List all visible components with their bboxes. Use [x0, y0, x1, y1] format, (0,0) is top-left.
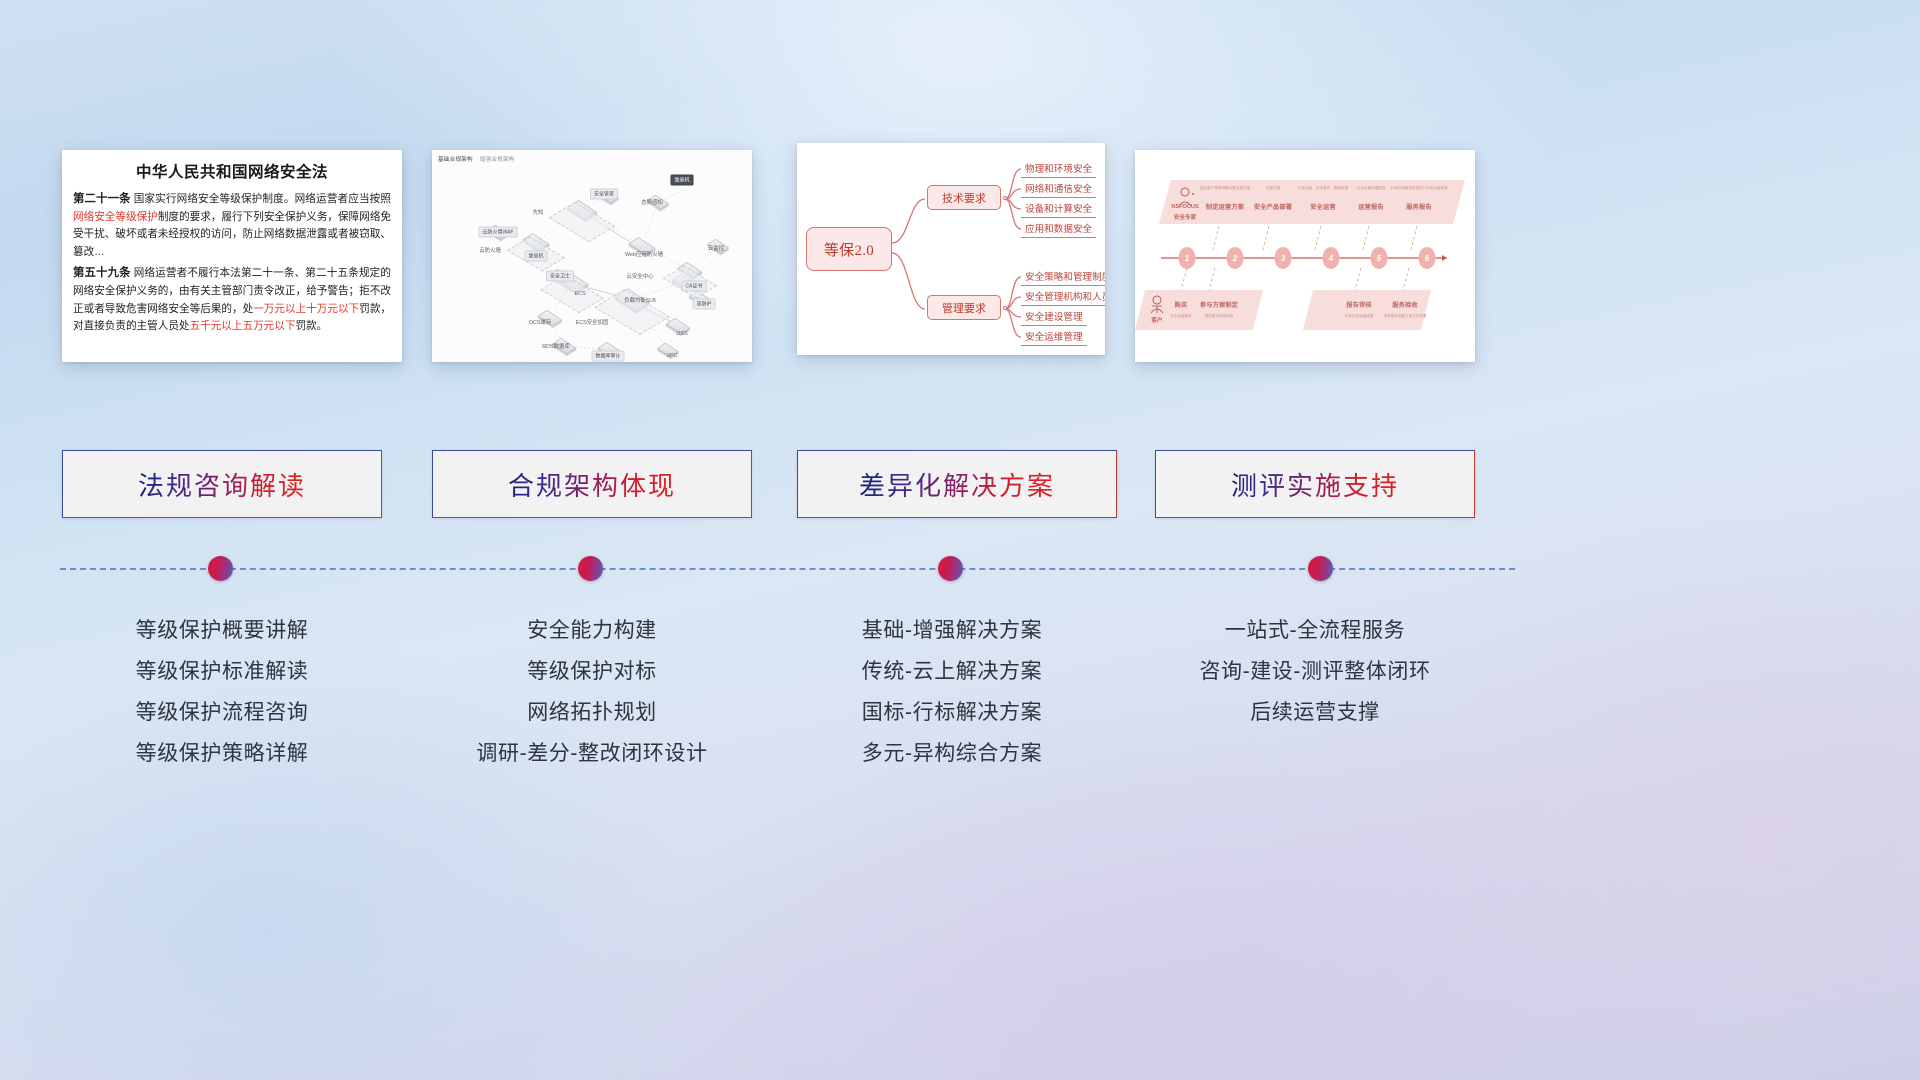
- feature-list-1: 等级保护概要讲解等级保护标准解读等级保护流程咨询等级保护策略详解: [42, 610, 402, 774]
- architecture-node-label: CA证书: [682, 281, 707, 292]
- mindmap-leaf: 网络和通信安全: [1021, 183, 1096, 198]
- architecture-node-label: Web应用防火墙: [625, 250, 663, 258]
- timeline-dot-1: [208, 556, 233, 581]
- slide-canvas: 中华人民共和国网络安全法 第二十一条 国家实行网络安全等级保护制度。网络运营者应…: [0, 0, 1920, 1080]
- flow-step-title: 服务报告: [1406, 202, 1432, 211]
- flow-step-number: 4: [1323, 247, 1340, 269]
- flow-brand-sublabel: 安全专家: [1174, 213, 1196, 221]
- architecture-node-label: 高防IP: [693, 299, 716, 310]
- law-text: 罚款。: [295, 320, 327, 332]
- mindmap-leaf: 安全管理机构和人员: [1021, 291, 1105, 306]
- card-cybersecurity-law: 中华人民共和国网络安全法 第二十一条 国家实行网络安全等级保护制度。网络运营者应…: [62, 150, 402, 362]
- flow-step-title: 安全运营: [1310, 202, 1336, 211]
- feature-list-item: 基础-增强解决方案: [772, 610, 1132, 651]
- architecture-node-label: 数据库审计: [591, 351, 624, 362]
- law-highlight-text: 一万元以上十万元以下: [253, 303, 359, 315]
- feature-list-item: 后续运营支撑: [1135, 692, 1495, 733]
- timeline-dot-3: [938, 556, 963, 581]
- flow-step-title: 安全产品部署: [1254, 202, 1292, 211]
- architecture-node-label: 云监控: [708, 244, 724, 252]
- flow-step-number: 3: [1275, 247, 1292, 269]
- feature-list-2: 安全能力构建等级保护对标网络拓扑规划调研-差分-整改闭环设计: [412, 610, 772, 774]
- mindmap-leaf: 应用和数据安全: [1021, 223, 1096, 238]
- mindmap-leaf: 安全策略和管理制度: [1021, 271, 1105, 286]
- architecture-node-label: 云防火墙WAF: [479, 227, 518, 238]
- card-compliance-architecture: 基础合规架构增强合规架构 安全管家堡垒机态势感知先知云防火墙WAF云防火墙堡垒机…: [432, 150, 752, 362]
- flow-step-number: 6: [1419, 247, 1436, 269]
- mindmap-root: 等保2.0: [806, 227, 892, 271]
- feature-list-item: 一站式-全流程服务: [1135, 610, 1495, 651]
- mindmap-leaf: 设备和计算安全: [1021, 203, 1096, 218]
- feature-list-item: 咨询-建设-测评整体闭环: [1135, 651, 1495, 692]
- section-title-text: 差异化解决方案: [859, 466, 1055, 503]
- feature-list-item: 等级保护策略详解: [42, 733, 402, 774]
- feature-list-item: 国标-行标解决方案: [772, 692, 1132, 733]
- law-body: 第二十一条 国家实行网络安全等级保护制度。网络运营者应当按照网络安全等级保护制度…: [62, 191, 402, 336]
- law-paragraph: 第五十九条 网络运营者不履行本法第二十一条、第二十五条规定的网络安全保护义务的，…: [73, 265, 391, 335]
- mindmap-leaf: 安全建设管理: [1021, 311, 1087, 326]
- section-title-text: 法规咨询解读: [138, 466, 306, 503]
- feature-list-item: 安全能力构建: [412, 610, 772, 651]
- card-service-flow: NSFOCUS安全专家客户结合客户需求明确出具实施方案制定运营方案实施方案安全产…: [1135, 150, 1475, 362]
- timeline-dot-4: [1308, 556, 1333, 581]
- flow-step-title: 购买: [1175, 300, 1188, 309]
- architecture-node-label: 云防火墙: [479, 246, 501, 254]
- mindmap-node-dot: [1003, 306, 1007, 310]
- architecture-node-label: OSS: [676, 331, 687, 337]
- architecture-node-label: ECS: [574, 291, 585, 297]
- flow-step-title: 参与方案制定: [1200, 300, 1238, 309]
- mindmap-branch-management: 管理要求: [927, 295, 1001, 320]
- law-article-number: 第五十九条: [73, 267, 131, 279]
- architecture-node-label: 先知: [533, 208, 544, 216]
- flow-step-sub: 提供基本现状信息: [1205, 314, 1234, 319]
- section-title-box-3[interactable]: 差异化解决方案: [797, 450, 1117, 518]
- flow-step-sub: 实施方案: [1266, 186, 1280, 191]
- architecture-node-label: 态势感知: [641, 198, 663, 206]
- feature-list-item: 传统-云上解决方案: [772, 651, 1132, 692]
- flow-brand-label: NSFOCUS: [1171, 204, 1198, 210]
- mindmap-branch-technical: 技术要求: [927, 185, 1001, 210]
- architecture-node-label: 安全卫士: [546, 271, 574, 282]
- flow-step-title: 运营报告: [1358, 202, 1384, 211]
- flow-step-sub: 结合客户需求明确出具实施方案: [1200, 186, 1250, 191]
- mindmap-node-dot: [1003, 196, 1007, 200]
- timeline-dashed-line: [60, 568, 1515, 570]
- feature-list-3: 基础-增强解决方案传统-云上解决方案国标-行标解决方案多元-异构综合方案: [772, 610, 1132, 774]
- flow-step-sub: 对本阶段服务成果进行总体运营效果: [1390, 186, 1448, 191]
- law-title: 中华人民共和国网络安全法: [62, 160, 402, 182]
- law-article-number: 第二十一条: [73, 193, 131, 205]
- law-text: 国家实行网络安全等级保护制度。网络运营者应当按照: [131, 193, 391, 205]
- flow-step-sub: 评审整体运营方案交付效果: [1383, 314, 1426, 319]
- mindmap-leaf: 安全运维管理: [1021, 331, 1087, 346]
- feature-list-item: 等级保护流程咨询: [42, 692, 402, 733]
- section-title-box-1[interactable]: 法规咨询解读: [62, 450, 382, 518]
- flow-step-title: 报告审核: [1346, 300, 1372, 309]
- feature-list-4: 一站式-全流程服务咨询-建设-测评整体闭环后续运营支撑: [1135, 610, 1495, 733]
- flow-step-number: 1: [1179, 247, 1196, 269]
- service-flow-diagram: NSFOCUS安全专家客户结合客户需求明确出具实施方案制定运营方案实施方案安全产…: [1135, 150, 1475, 362]
- flow-step-number: 2: [1227, 247, 1244, 269]
- architecture-node-label: VPC: [666, 353, 677, 359]
- architecture-node-label: RDS数据库: [542, 342, 570, 350]
- architecture-node-label: 堡垒机: [670, 175, 693, 186]
- flow-customer-label: 客户: [1151, 316, 1162, 324]
- architecture-node-label: OCS缓存: [529, 318, 551, 326]
- law-paragraph: 第二十一条 国家实行网络安全等级保护制度。网络运营者应当按照网络安全等级保护制度…: [73, 191, 391, 261]
- feature-list-item: 等级保护对标: [412, 651, 772, 692]
- flow-step-title: 服务验收: [1392, 300, 1418, 309]
- section-title-text: 合规架构体现: [508, 466, 676, 503]
- mindmap: 等保2.0 技术要求 管理要求 物理和环境安全网络和通信安全设备和计算安全应用和…: [797, 143, 1105, 355]
- architecture-node-label: 安全管家: [590, 189, 618, 200]
- card-dengbao-mindmap: 等保2.0 技术要求 管理要求 物理和环境安全网络和通信安全设备和计算安全应用和…: [797, 143, 1105, 355]
- feature-list-item: 等级保护标准解读: [42, 651, 402, 692]
- feature-list-item: 多元-异构综合方案: [772, 733, 1132, 774]
- architecture-node-label: 云安全中心: [627, 272, 654, 280]
- flow-step-number: 5: [1371, 247, 1388, 269]
- timeline-dot-2: [578, 556, 603, 581]
- section-title-text: 测评实施支持: [1231, 466, 1399, 503]
- flow-step-sub: 日常运维、安全事件、周期处理: [1298, 186, 1348, 191]
- feature-list-item: 网络拓扑规划: [412, 692, 772, 733]
- flow-step-sub: 评审安全运营效果: [1345, 314, 1374, 319]
- architecture-node-label: 堡垒机: [524, 251, 547, 262]
- section-title-box-4[interactable]: 测评实施支持: [1155, 450, 1475, 518]
- mindmap-leaf: 物理和环境安全: [1021, 163, 1096, 178]
- law-highlight-text: 网络安全等级保护: [73, 211, 158, 223]
- section-title-box-2[interactable]: 合规架构体现: [432, 450, 752, 518]
- feature-list-item: 等级保护概要讲解: [42, 610, 402, 651]
- flow-step-sub: 针对运营效果报告: [1357, 186, 1386, 191]
- feature-list-item: 调研-差分-整改闭环设计: [412, 733, 772, 774]
- architecture-diagram: 基础合规架构增强合规架构 安全管家堡垒机态势感知先知云防火墙WAF云防火墙堡垒机…: [432, 150, 752, 362]
- architecture-node-label: 负载均衡SLB: [624, 296, 656, 304]
- law-highlight-text: 五千元以上五万元以下: [190, 320, 296, 332]
- architecture-connectors: [432, 150, 752, 362]
- flow-step-title: 制定运营方案: [1206, 202, 1244, 211]
- flow-step-sub: 安全运营服务: [1170, 314, 1192, 319]
- architecture-node-label: ECS安全加固: [576, 318, 609, 326]
